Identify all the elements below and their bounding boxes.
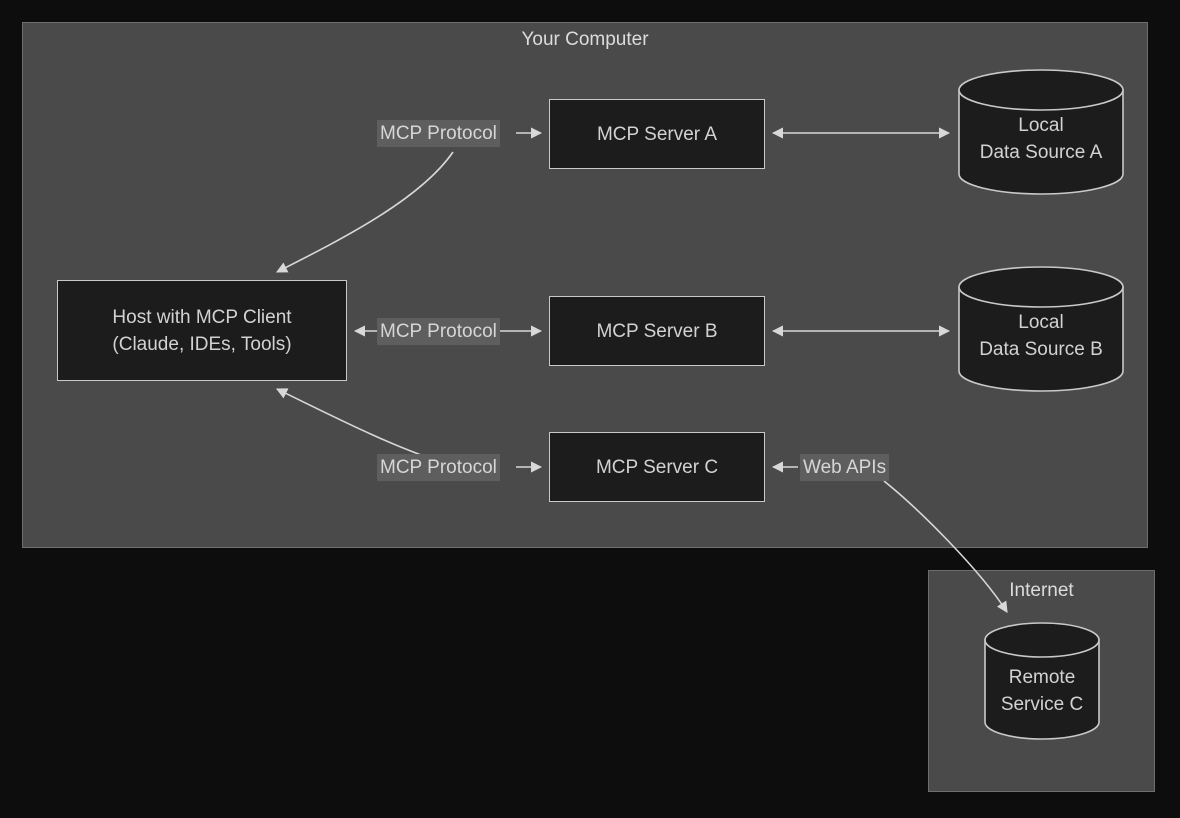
node-remote-service-c-line2: Service C: [983, 691, 1101, 718]
node-mcp-server-b[interactable]: MCP Server B: [549, 296, 765, 366]
node-host-line1: Host with MCP Client: [112, 304, 291, 331]
node-local-data-source-a-line2: Data Source A: [957, 139, 1125, 166]
edge-label-protocol-c: MCP Protocol: [377, 454, 500, 481]
node-mcp-server-a[interactable]: MCP Server A: [549, 99, 765, 169]
node-local-data-source-b-line1: Local: [957, 309, 1125, 336]
node-local-data-source-a[interactable]: Local Data Source A: [957, 68, 1125, 196]
edge-label-web-apis: Web APIs: [800, 454, 889, 481]
node-mcp-server-c-label: MCP Server C: [596, 454, 718, 481]
edge-label-protocol-a: MCP Protocol: [377, 120, 500, 147]
node-local-data-source-a-line1: Local: [957, 112, 1125, 139]
node-host-line2: (Claude, IDEs, Tools): [112, 331, 291, 358]
node-mcp-server-c[interactable]: MCP Server C: [549, 432, 765, 502]
node-local-data-source-b[interactable]: Local Data Source B: [957, 265, 1125, 393]
group-title-internet: Internet: [929, 580, 1154, 602]
node-local-data-source-b-line2: Data Source B: [957, 336, 1125, 363]
node-host-with-mcp-client[interactable]: Host with MCP Client (Claude, IDEs, Tool…: [57, 280, 347, 381]
node-remote-service-c[interactable]: Remote Service C: [983, 622, 1101, 740]
edge-label-protocol-b: MCP Protocol: [377, 318, 500, 345]
node-mcp-server-b-label: MCP Server B: [596, 318, 717, 345]
group-title-your-computer: Your Computer: [23, 29, 1147, 51]
node-mcp-server-a-label: MCP Server A: [597, 121, 717, 148]
node-remote-service-c-line1: Remote: [983, 664, 1101, 691]
diagram-canvas: Your Computer Internet: [0, 0, 1180, 818]
